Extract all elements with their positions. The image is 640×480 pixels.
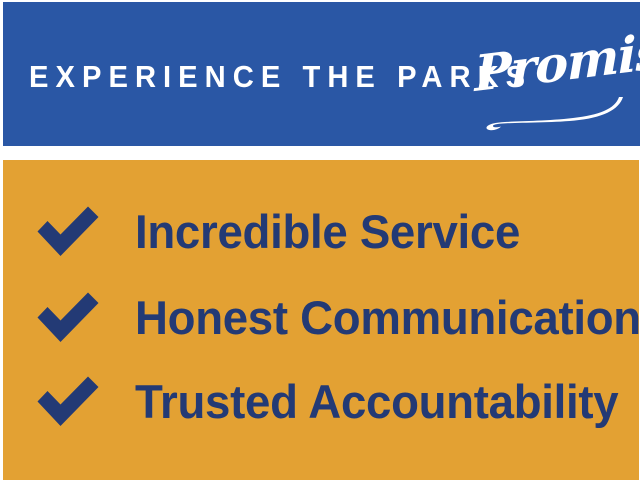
list-item-label: Incredible Service bbox=[135, 206, 520, 258]
list-item: Incredible Service bbox=[35, 200, 532, 264]
divider bbox=[0, 146, 640, 160]
header-band: EXPERIENCE THE PARKS Promise bbox=[3, 2, 640, 146]
checkmark-icon bbox=[35, 290, 101, 346]
list-item-label: Honest Communication bbox=[135, 292, 639, 344]
header-content: EXPERIENCE THE PARKS Promise bbox=[3, 2, 640, 146]
script-word-promise: Promise bbox=[474, 19, 640, 102]
list-item: Honest Communication bbox=[35, 286, 639, 350]
page-title: EXPERIENCE THE PARKS bbox=[29, 59, 532, 95]
list-item: Trusted Accountability bbox=[35, 370, 633, 434]
body-band: Incredible Service Honest Communication … bbox=[3, 160, 639, 480]
promise-poster: EXPERIENCE THE PARKS Promise Incredible … bbox=[0, 0, 640, 480]
script-lockup: Promise bbox=[469, 42, 629, 132]
checkmark-icon bbox=[35, 204, 101, 260]
promise-list: Incredible Service Honest Communication … bbox=[3, 160, 639, 480]
checkmark-icon bbox=[35, 374, 101, 430]
list-item-label: Trusted Accountability bbox=[135, 376, 618, 428]
